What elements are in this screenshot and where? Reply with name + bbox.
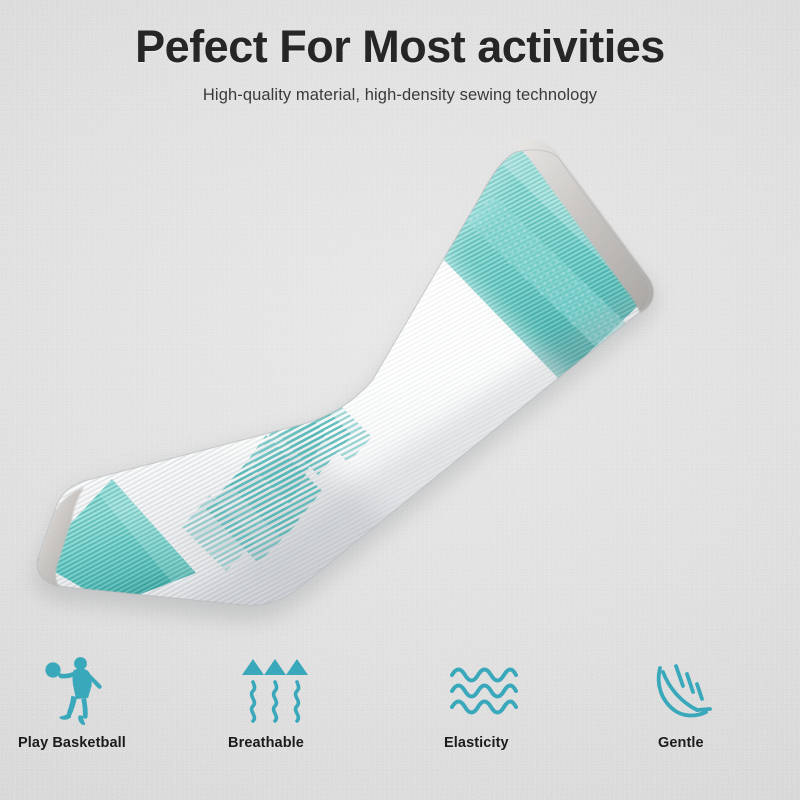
feature-label: Breathable (228, 735, 304, 751)
feature-item-gentle: Gentle (600, 655, 800, 785)
product-image (0, 135, 800, 655)
feature-label: Elasticity (444, 735, 509, 751)
arm-sleeve-illustration (0, 135, 800, 655)
feather-icon (654, 655, 720, 727)
feature-list: Play Basketball Breathab (0, 655, 800, 785)
feature-item-play-basketball: Play Basketball (0, 655, 200, 785)
feature-label: Play Basketball (18, 735, 126, 751)
breathable-arrows-icon (242, 655, 312, 727)
sleeve-body (0, 135, 800, 655)
feature-item-elasticity: Elasticity (400, 655, 600, 785)
page-title: Pefect For Most activities (0, 0, 800, 72)
page-subtitle: High-quality material, high-density sewi… (0, 72, 800, 105)
product-feature-banner: Pefect For Most activities High-quality … (0, 0, 800, 800)
banner-header: Pefect For Most activities High-quality … (0, 0, 800, 105)
feature-item-breathable: Breathable (200, 655, 400, 785)
elasticity-waves-icon (448, 655, 520, 727)
feature-label: Gentle (658, 735, 704, 751)
basketball-player-icon (40, 655, 108, 727)
